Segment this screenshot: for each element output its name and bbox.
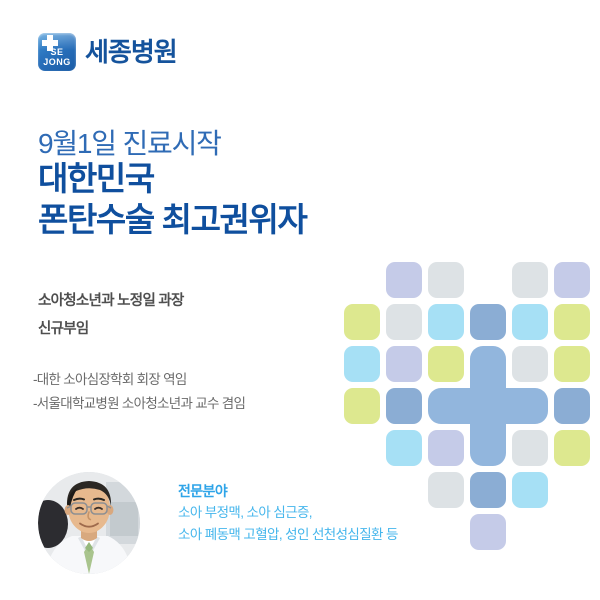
pattern-tile [428, 430, 464, 466]
pattern-tile [512, 430, 548, 466]
pattern-tile [554, 304, 590, 340]
doctor-portrait-avatar [38, 472, 140, 574]
pattern-tile [428, 472, 464, 508]
headline-eyebrow: 9월1일 진료시작 [38, 128, 306, 159]
pattern-tile [344, 346, 380, 382]
pattern-tile [386, 430, 422, 466]
hospital-logo: SE JONG 세종병원 [38, 33, 177, 71]
pattern-tile [386, 304, 422, 340]
credentials-block: -대한 소아심장학회 회장 역임 -서울대학교병원 소아청소년과 교수 겸임 [33, 368, 245, 415]
pattern-cross-stem [470, 346, 506, 466]
pattern-tile [386, 346, 422, 382]
pattern-tile [344, 304, 380, 340]
headline-line-2: 폰탄수술 최고권위자 [38, 200, 306, 241]
pattern-tile [386, 388, 422, 424]
logo-mark-line1: SE [38, 48, 76, 57]
pattern-tile [428, 304, 464, 340]
specialty-title: 전문분야 [178, 481, 398, 502]
promo-poster: SE JONG 세종병원 9월1일 진료시작 대한민국 폰탄수술 최고권위자 소… [0, 0, 600, 600]
credential-item: -대한 소아심장학회 회장 역임 [33, 368, 245, 392]
subtitle-line-1: 소아청소년과 노정일 과장 [38, 288, 184, 316]
pattern-tile [512, 262, 548, 298]
pattern-tile [554, 430, 590, 466]
subtitle-line-2: 신규부임 [38, 316, 184, 344]
pattern-tile [554, 346, 590, 382]
doctor-portrait-illustration [38, 472, 140, 574]
pattern-tile [512, 304, 548, 340]
subtitle-block: 소아청소년과 노정일 과장 신규부임 [38, 288, 184, 343]
specialty-line-1: 소아 부정맥, 소아 심근증, [178, 502, 398, 524]
pattern-tile [428, 262, 464, 298]
headline-line-1: 대한민국 [38, 159, 306, 200]
pattern-cross-arm [428, 388, 548, 424]
logo-mark-line2: JONG [38, 58, 76, 67]
pattern-tile [512, 472, 548, 508]
pattern-tile [470, 514, 506, 550]
credential-item: -서울대학교병원 소아청소년과 교수 겸임 [33, 392, 245, 416]
pattern-tile [512, 346, 548, 382]
specialty-block: 전문분야 소아 부정맥, 소아 심근증, 소아 폐동맥 고혈압, 성인 선천성심… [178, 481, 398, 547]
pattern-tile [470, 472, 506, 508]
pattern-tile [344, 388, 380, 424]
pattern-tile [554, 262, 590, 298]
headline-block: 9월1일 진료시작 대한민국 폰탄수술 최고권위자 [38, 128, 306, 241]
pattern-tile [428, 346, 464, 382]
hospital-name: 세종병원 [85, 39, 177, 65]
medical-cross-icon-bar [42, 40, 58, 46]
pattern-tile [554, 388, 590, 424]
specialty-line-2: 소아 폐동맥 고혈압, 성인 선천성심질환 등 [178, 524, 398, 546]
sejong-logo-mark: SE JONG [38, 33, 76, 71]
pattern-tile [386, 262, 422, 298]
pattern-tile [470, 304, 506, 340]
